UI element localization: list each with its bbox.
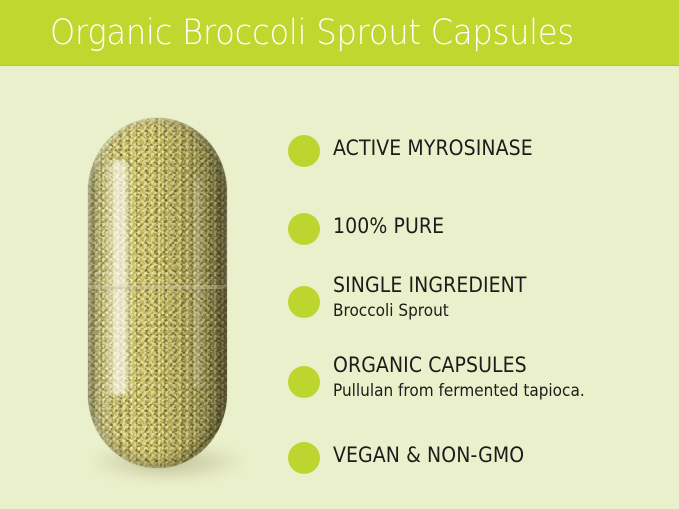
product-infographic: Organic Broccoli Sprout Capsules ACTIVE … bbox=[0, 0, 679, 509]
feature-subtitle: Pullulan from fermented tapioca. bbox=[333, 380, 585, 403]
capsule-highlight bbox=[105, 160, 131, 395]
bullet-dot-icon bbox=[288, 286, 320, 318]
product-image bbox=[88, 118, 227, 468]
capsule-body bbox=[88, 118, 227, 468]
feature-title: ORGANIC CAPSULES bbox=[333, 352, 585, 378]
list-item: VEGAN & NON-GMO bbox=[288, 442, 545, 474]
feature-text: 100% PURE bbox=[333, 213, 457, 239]
bullet-dot-icon bbox=[288, 213, 320, 245]
capsule-highlight-secondary bbox=[192, 178, 203, 388]
feature-text: SINGLE INGREDIENT Broccoli Sprout bbox=[333, 272, 548, 323]
feature-list: ACTIVE MYROSINASE 100% PURE SINGLE INGRE… bbox=[288, 0, 679, 509]
capsule-seam bbox=[88, 285, 227, 289]
bullet-dot-icon bbox=[288, 442, 320, 474]
feature-text: ORGANIC CAPSULES Pullulan from fermented… bbox=[333, 352, 613, 403]
feature-subtitle: Broccoli Sprout bbox=[333, 300, 527, 323]
feature-title: ACTIVE MYROSINASE bbox=[333, 135, 533, 161]
feature-text: VEGAN & NON-GMO bbox=[333, 442, 545, 468]
list-item: SINGLE INGREDIENT Broccoli Sprout bbox=[288, 272, 548, 323]
feature-text: ACTIVE MYROSINASE bbox=[333, 135, 555, 161]
list-item: ORGANIC CAPSULES Pullulan from fermented… bbox=[288, 352, 613, 403]
feature-title: 100% PURE bbox=[333, 213, 444, 239]
list-item: ACTIVE MYROSINASE bbox=[288, 135, 555, 167]
feature-title: SINGLE INGREDIENT bbox=[333, 272, 527, 298]
bullet-dot-icon bbox=[288, 135, 320, 167]
feature-title: VEGAN & NON-GMO bbox=[333, 442, 524, 468]
list-item: 100% PURE bbox=[288, 213, 457, 245]
bullet-dot-icon bbox=[288, 366, 320, 398]
